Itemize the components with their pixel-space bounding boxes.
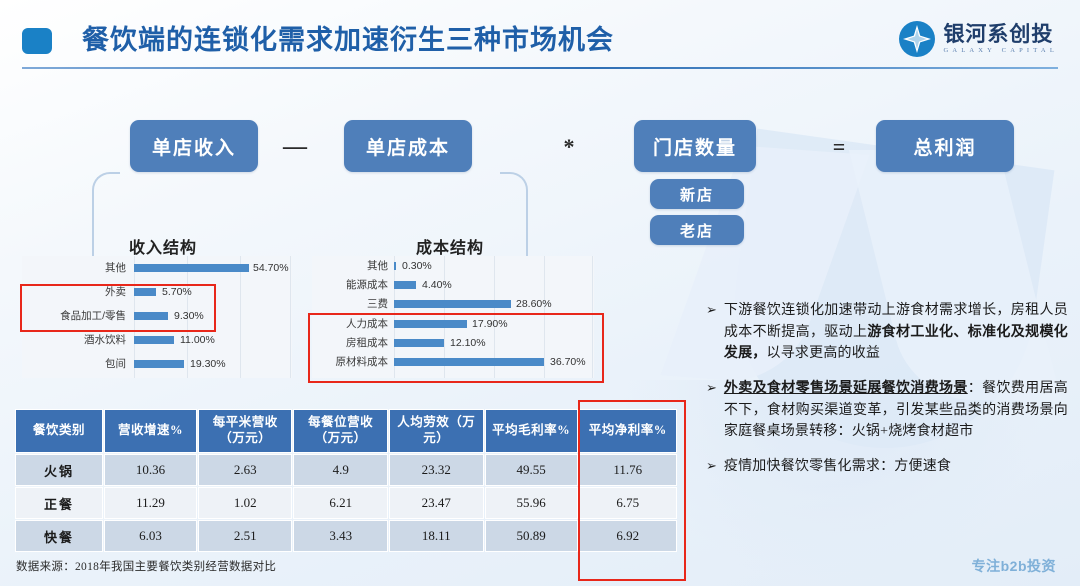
bar-value: 28.60% [516,297,552,311]
restaurant-metrics-table: 餐饮类别 营收增速% 每平米营收（万元） 每餐位营收（万元） 人均劳效（万元） … [14,408,678,553]
formula-box-single-store-revenue[interactable]: 单店收入 [130,120,258,172]
bar-value: 36.70% [550,355,586,369]
table-cell: 10.36 [104,454,197,486]
table-cell-category: 正餐 [15,487,103,519]
formula-box-new-store[interactable]: 新店 [650,179,744,209]
bar-value: 19.30% [190,357,226,371]
bar-fill [394,281,416,289]
bar-fill [134,336,174,344]
equals-operator: = [822,136,856,158]
bar-label: 其他 [22,261,126,275]
page-title: 餐饮端的连锁化需求加速衍生三种市场机会 [82,18,614,57]
bar-value: 9.30% [174,309,204,323]
insight-text: 下游餐饮连锁化加速带动上游食材需求增长，房租人员成本不断提高，驱动上游食材工业化… [724,300,1068,365]
insight-emphasis: 外卖及食材零售场景延展餐饮消费场景 [724,381,968,396]
bar-label: 食品加工/零售 [22,309,126,323]
table-cell: 2.63 [198,454,292,486]
slide-root: 餐饮端的连锁化需求加速衍生三种市场机会 银河系创投 GALAXY CAPITAL… [0,0,1080,586]
bar-fill [134,264,249,272]
bar-label: 原材料成本 [312,355,388,369]
table-cell: 4.9 [293,454,387,486]
bar-fill [134,312,168,320]
slide-header: 餐饮端的连锁化需求加速衍生三种市场机会 银河系创投 GALAXY CAPITAL [0,0,1080,78]
bar-label: 三费 [312,297,388,311]
bar-fill [134,360,184,368]
bar-label: 其他 [312,259,388,273]
table-cell-category: 火锅 [15,454,103,486]
formula-box-store-count[interactable]: 门店数量 [634,120,756,172]
logo-name-cn: 银河系创投 [943,24,1058,45]
bar-fill [394,320,467,328]
revenue-structure-chart: 其他 54.70% 外卖 5.70% 食品加工/零售 9.30% 酒水饮料 11… [22,256,292,378]
table-header-cell: 每餐位营收（万元） [293,409,387,453]
table-row: 火锅 10.36 2.63 4.9 23.32 49.55 11.76 [15,454,677,486]
table-cell-highlight: 6.75 [579,487,677,519]
logo-wordmark: 银河系创投 GALAXY CAPITAL [943,24,1058,55]
table-row: 快餐 6.03 2.51 3.43 18.11 50.89 6.92 [15,520,677,552]
arrow-bullet-icon: ➢ [706,300,717,365]
cost-structure-chart: 其他 0.30% 能源成本 4.40% 三费 28.60% 人力成本 17.90… [312,256,594,378]
arrow-bullet-icon: ➢ [706,456,717,478]
bar-value: 5.70% [162,285,192,299]
bar-value: 0.30% [402,259,432,273]
bar-fill [394,262,396,270]
insight-text: 外卖及食材零售场景延展餐饮消费场景：餐饮费用居高不下，食材购买渠道变革，引发某些… [724,378,1068,443]
table-cell: 23.32 [389,454,484,486]
table-cell: 3.43 [293,520,387,552]
header-divider [22,67,1058,69]
table-cell: 2.51 [198,520,292,552]
bar-label: 能源成本 [312,278,388,292]
bar-label: 房租成本 [312,336,388,350]
bar-value: 54.70% [253,261,289,275]
galaxy-star-icon [898,20,936,58]
table-cell: 49.55 [485,454,578,486]
minus-operator: — [272,136,318,158]
insight-suffix: 以寻求更高的收益 [767,346,881,361]
bar-value: 11.00% [180,333,215,347]
table-cell: 55.96 [485,487,578,519]
bar-fill [394,339,444,347]
bar-label: 外卖 [22,285,126,299]
table-header-cell: 营收增速% [104,409,197,453]
list-item: ➢ 下游餐饮连锁化加速带动上游食材需求增长，房租人员成本不断提高，驱动上游食材工… [706,300,1068,365]
profit-formula-diagram: 单店收入 — 单店成本 * 门店数量 新店 老店 = 总利润 [0,84,1080,216]
list-item: ➢ 疫情加快餐饮零售化需求：方便速食 [706,456,1068,478]
table-cell: 11.29 [104,487,197,519]
table-row: 正餐 11.29 1.02 6.21 23.47 55.96 6.75 [15,487,677,519]
multiply-operator: * [552,134,586,160]
bar-fill [394,358,544,366]
table-cell: 23.47 [389,487,484,519]
cost-chart-title: 成本结构 [416,234,484,258]
bar-fill [134,288,156,296]
bar-label: 包间 [22,357,126,371]
table-cell: 6.03 [104,520,197,552]
table-header-cell: 餐饮类别 [15,409,103,453]
table-header-cell: 平均毛利率% [485,409,578,453]
bar-value: 17.90% [472,317,508,331]
table-header-row: 餐饮类别 营收增速% 每平米营收（万元） 每餐位营收（万元） 人均劳效（万元） … [15,409,677,453]
list-item: ➢ 外卖及食材零售场景延展餐饮消费场景：餐饮费用居高不下，食材购买渠道变革，引发… [706,378,1068,443]
table-cell-highlight: 6.92 [579,520,677,552]
table-cell: 1.02 [198,487,292,519]
bar-label: 人力成本 [312,317,388,331]
formula-box-single-store-cost[interactable]: 单店成本 [344,120,472,172]
arrow-bullet-icon: ➢ [706,378,717,443]
insights-list: ➢ 下游餐饮连锁化加速带动上游食材需求增长，房租人员成本不断提高，驱动上游食材工… [706,300,1068,491]
table-cell: 50.89 [485,520,578,552]
table-header-cell: 每平米营收（万元） [198,409,292,453]
insight-text: 疫情加快餐饮零售化需求：方便速食 [724,456,951,478]
bar-label: 酒水饮料 [22,333,126,347]
bar-value: 12.10% [450,336,486,350]
title-accent-square-icon [22,28,52,54]
table-cell: 18.11 [389,520,484,552]
table-header-cell: 人均劳效（万元） [389,409,484,453]
logo-name-en: GALAXY CAPITAL [943,48,1058,55]
table-cell-highlight: 11.76 [579,454,677,486]
table-header-cell: 平均净利率% [579,409,677,453]
data-source-note: 数据来源：2018年我国主要餐饮类别经营数据对比 [16,558,276,574]
bar-fill [394,300,511,308]
company-logo: 银河系创投 GALAXY CAPITAL [898,18,1058,60]
table-cell: 6.21 [293,487,387,519]
table-cell-category: 快餐 [15,520,103,552]
formula-box-old-store[interactable]: 老店 [650,215,744,245]
bar-value: 4.40% [422,278,452,292]
formula-box-total-profit[interactable]: 总利润 [876,120,1014,172]
revenue-chart-title: 收入结构 [129,234,197,258]
watermark-text: 专注b2b投资 [972,556,1056,576]
